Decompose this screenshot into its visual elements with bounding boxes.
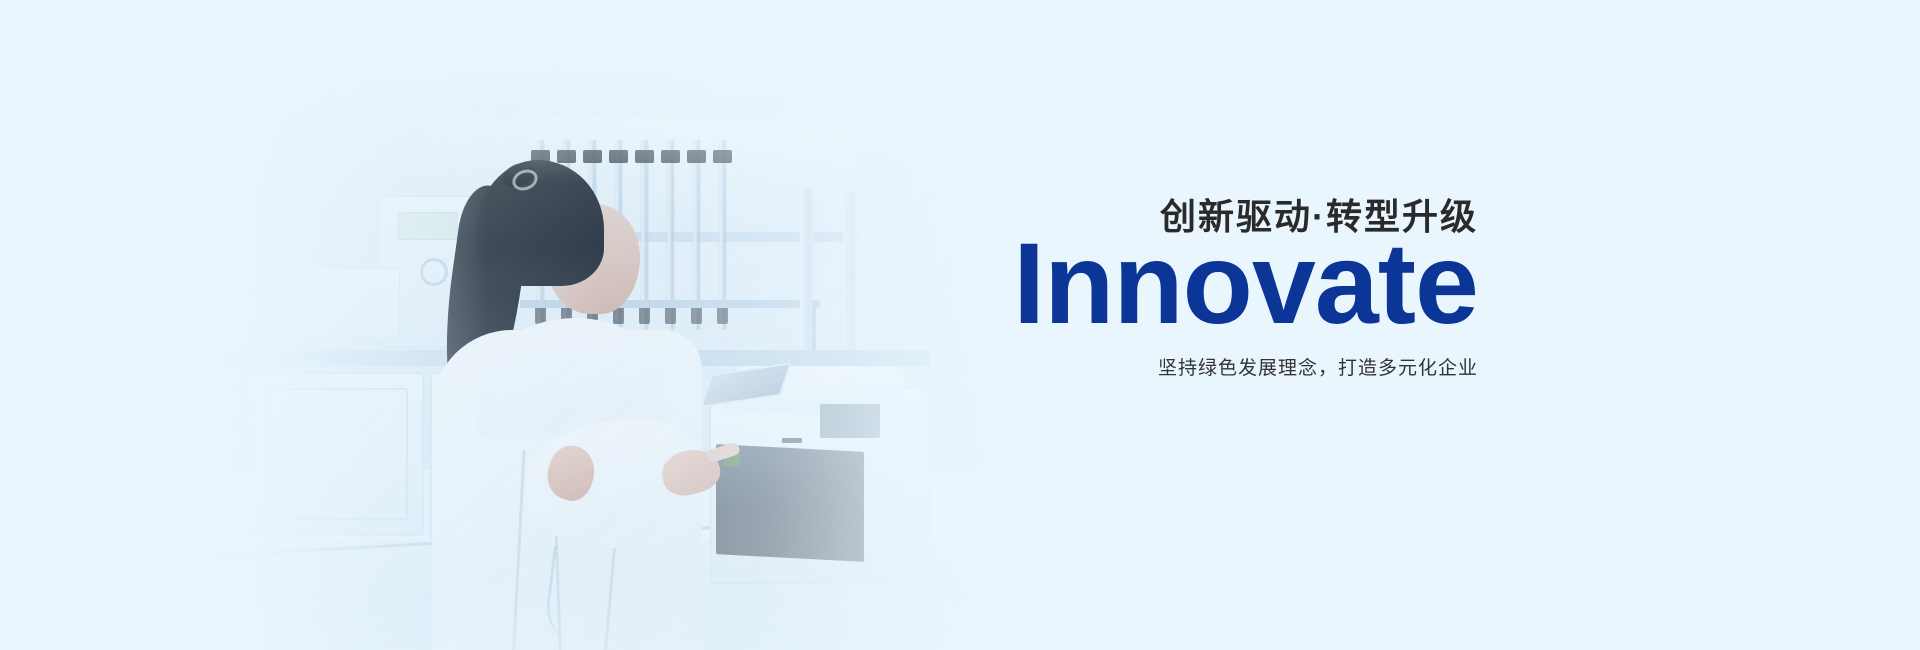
hair-crown — [476, 160, 604, 286]
bench-instrument — [302, 268, 400, 342]
hero-subtitle: 坚持绿色发展理念，打造多元化企业 — [838, 356, 1478, 383]
hero-title: Innovate — [838, 232, 1478, 338]
instrument-panel — [820, 404, 880, 438]
lab-cabinet — [250, 372, 424, 536]
finger — [705, 441, 741, 464]
instrument-slot — [782, 438, 802, 443]
cabinet-panel — [266, 388, 408, 520]
hero-banner: 创新驱动·转型升级 Innovate 坚持绿色发展理念，打造多元化企业 — [0, 0, 1920, 650]
hero-copy: 创新驱动·转型升级 Innovate 坚持绿色发展理念，打造多元化企业 — [838, 196, 1478, 383]
lab-technician — [430, 150, 760, 650]
